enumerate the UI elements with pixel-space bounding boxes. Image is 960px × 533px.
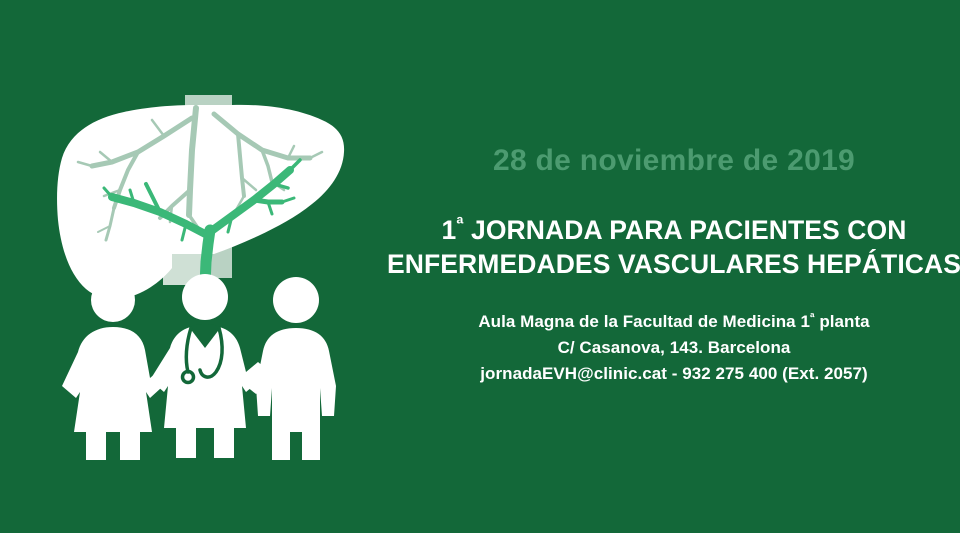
page-title: 1ª JORNADA PARA PACIENTES CON ENFERMEDAD… — [387, 214, 960, 281]
event-poster: 28 de noviembre de 2019 1ª JORNADA PARA … — [0, 0, 960, 533]
venue-line-1-prefix: Aula Magna de la Facultad de Medicina 1 — [478, 312, 810, 331]
patient-woman-figure — [62, 278, 172, 460]
event-date: 28 de noviembre de 2019 — [493, 146, 855, 176]
liver-illustration — [0, 0, 400, 533]
title-ordinal-indicator: ª — [456, 215, 463, 236]
venue-line-1: Aula Magna de la Facultad de Medicina 1ª… — [478, 309, 869, 335]
title-line-2: ENFERMEDADES VASCULARES HEPÁTICAS — [387, 248, 960, 282]
title-line-1-rest: JORNADA PARA PACIENTES CON — [464, 215, 907, 245]
event-text-panel: 28 de noviembre de 2019 1ª JORNADA PARA … — [388, 0, 960, 533]
venue-contact: jornadaEVH@clinic.cat - 932 275 400 (Ext… — [478, 361, 869, 387]
venue-address: C/ Casanova, 143. Barcelona — [478, 335, 869, 361]
title-ordinal-number: 1 — [442, 215, 457, 245]
doctor-figure — [150, 274, 270, 458]
venue-line-1-suffix: planta — [815, 312, 870, 331]
patient-man-figure — [246, 277, 336, 460]
venue-info: Aula Magna de la Facultad de Medicina 1ª… — [478, 309, 869, 386]
title-line-1: 1ª JORNADA PARA PACIENTES CON — [387, 214, 960, 248]
